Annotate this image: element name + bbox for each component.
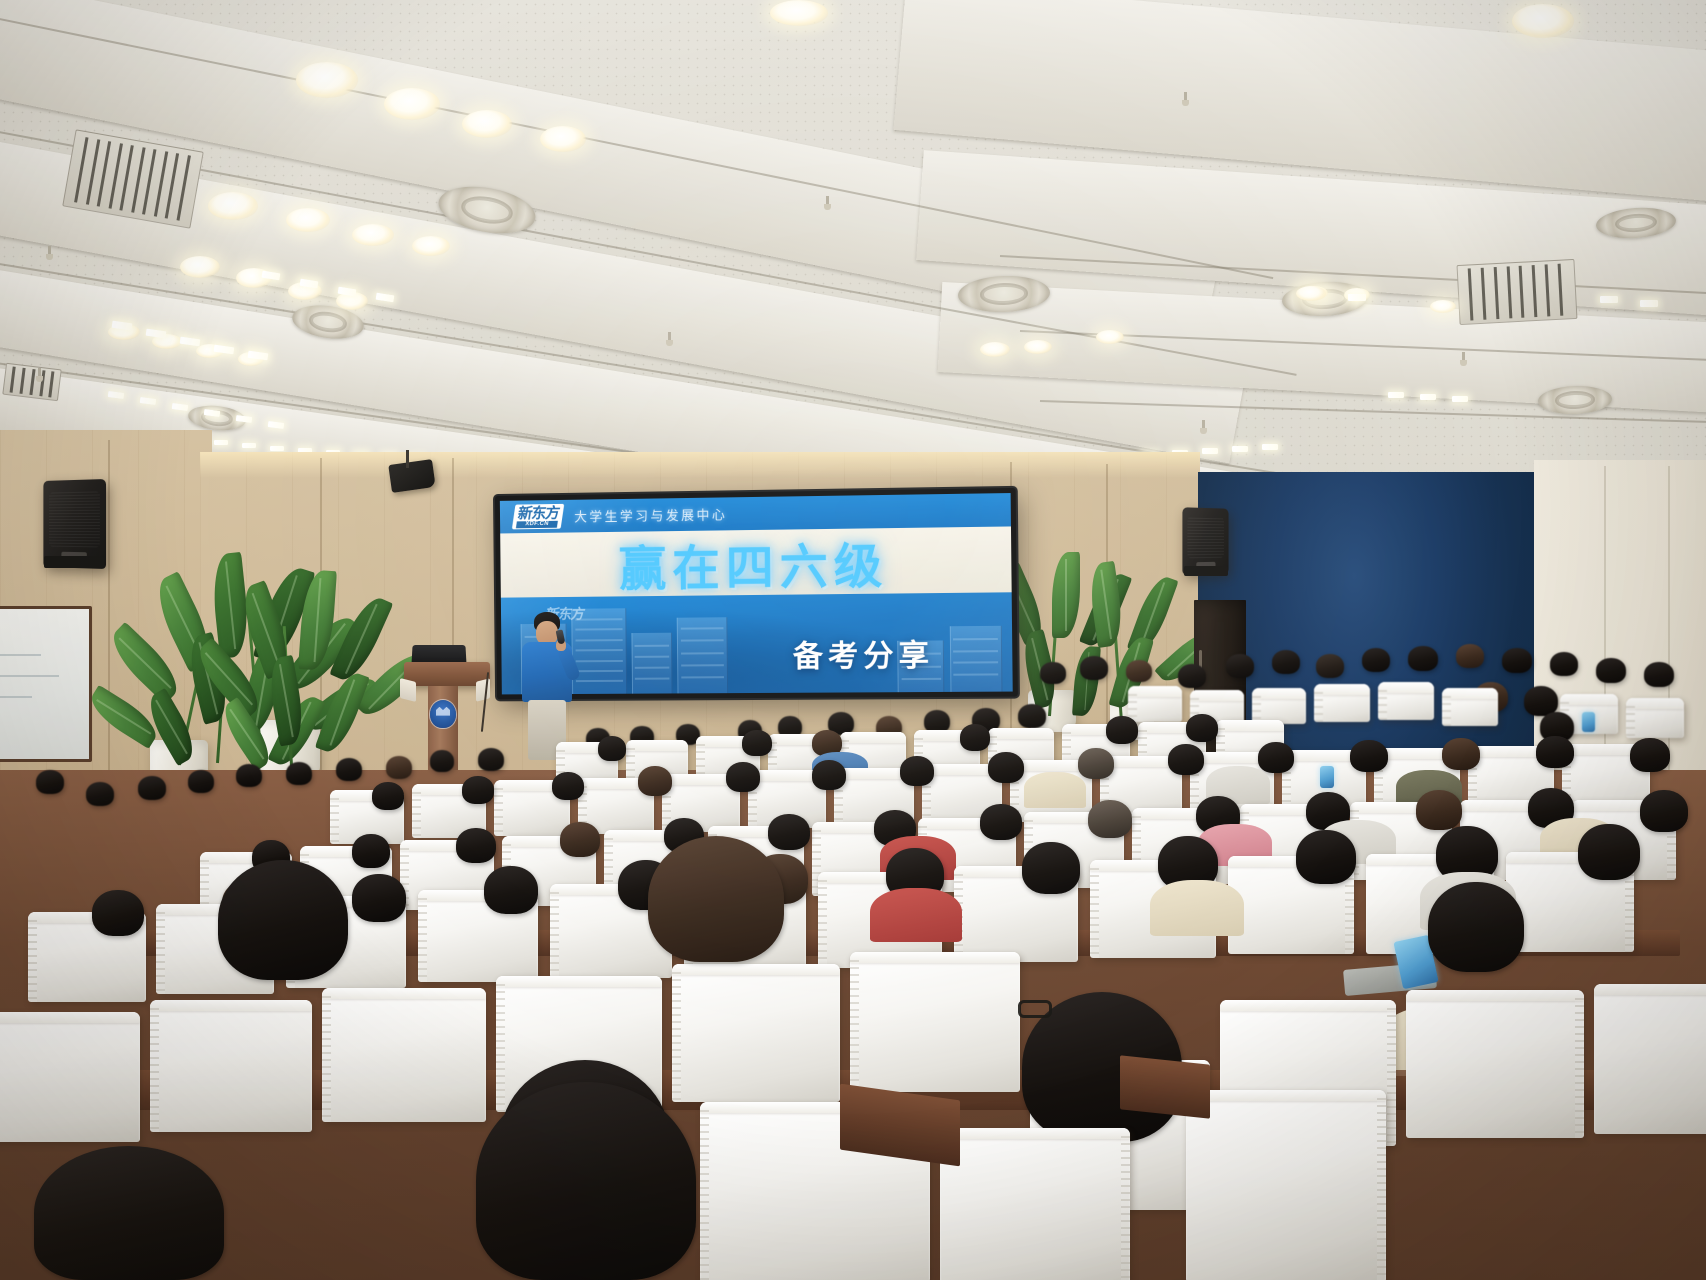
audience-head xyxy=(1316,654,1344,678)
audience-seat[interactable] xyxy=(1594,984,1706,1134)
slide-skyline-graphic xyxy=(632,633,673,694)
downlight-icon xyxy=(384,88,440,120)
audience-head xyxy=(980,804,1022,840)
audience-head xyxy=(1078,748,1114,779)
audience-head xyxy=(1536,736,1574,768)
audience-head xyxy=(386,756,412,779)
audience-head xyxy=(1296,830,1356,884)
audience-seat[interactable] xyxy=(1378,682,1434,720)
audience-head xyxy=(430,750,454,772)
audience-head xyxy=(1350,740,1388,772)
plant-left-cluster-b xyxy=(214,560,404,760)
audience-head xyxy=(900,756,934,786)
audience-seat[interactable] xyxy=(150,1000,312,1132)
audience-seat[interactable] xyxy=(1252,688,1306,724)
audience-head xyxy=(218,860,348,980)
xdf-logo-en: XDF.CN xyxy=(516,521,558,529)
audience-head xyxy=(456,828,496,863)
audience-head xyxy=(552,772,584,800)
strip-light-icon xyxy=(1348,294,1366,301)
audience-head xyxy=(1258,742,1294,773)
strip-light-icon xyxy=(1202,448,1218,454)
whiteboard-marking xyxy=(0,696,32,698)
audience-head xyxy=(1018,704,1046,728)
whiteboard-marking xyxy=(0,654,41,656)
audience-head xyxy=(560,822,600,857)
audience-head xyxy=(1040,662,1066,684)
cove-light-glow xyxy=(200,452,1200,478)
sprinkler-icon xyxy=(46,246,53,262)
hvac-vent-icon xyxy=(2,363,61,402)
strip-light-icon xyxy=(1452,396,1468,402)
strip-light-icon xyxy=(1420,394,1436,400)
downlight-icon xyxy=(1512,4,1574,38)
downlight-icon xyxy=(462,110,512,138)
sprinkler-icon xyxy=(1182,92,1189,108)
audience-seat[interactable] xyxy=(322,988,486,1122)
audience-head xyxy=(1168,744,1204,775)
audience-head xyxy=(188,770,214,793)
audience-head xyxy=(768,814,810,850)
audience-head xyxy=(484,866,538,914)
downlight-icon xyxy=(770,0,828,26)
sprinkler-icon xyxy=(36,368,43,384)
strip-light-icon xyxy=(242,443,256,448)
audience-head xyxy=(648,836,784,962)
ceiling xyxy=(0,0,1706,520)
slide-subtitle: 备考分享 xyxy=(793,631,935,676)
presenter xyxy=(512,612,582,760)
xdf-logo-cn: 新东方 xyxy=(517,506,560,521)
audience-head xyxy=(138,776,166,800)
downlight-icon xyxy=(286,208,330,232)
downlight-icon xyxy=(980,342,1010,357)
plant-leaf xyxy=(1052,552,1080,638)
audience-seat[interactable] xyxy=(1314,684,1370,722)
slide-main-title: 赢在四六级 xyxy=(619,526,889,599)
audience-shoulders xyxy=(870,888,962,942)
audience-head xyxy=(1080,656,1108,680)
strip-light-icon xyxy=(214,440,228,445)
audience-head xyxy=(960,724,990,751)
audience-head xyxy=(1178,664,1206,688)
speaker-bracket xyxy=(44,556,104,568)
audience-head xyxy=(1630,738,1670,772)
audience-head xyxy=(1408,646,1438,671)
audience-head xyxy=(86,782,114,806)
audience-seat[interactable] xyxy=(850,952,1020,1092)
downlight-icon xyxy=(180,256,220,278)
audience-head xyxy=(92,890,144,936)
audience-head xyxy=(1106,716,1138,744)
downlight-icon xyxy=(208,192,258,220)
audience-head xyxy=(1272,650,1300,674)
audience-seat[interactable] xyxy=(1186,1090,1386,1280)
auditorium-photo: 新东方 XDF.CN 大学生学习与发展中心 赢在四六级 xyxy=(0,0,1706,1280)
audience-head-foreground xyxy=(476,1082,696,1280)
audience-seat[interactable] xyxy=(1442,688,1498,726)
strip-light-icon xyxy=(1600,296,1618,303)
downlight-icon xyxy=(540,126,586,152)
audience-head xyxy=(336,758,362,781)
audience-head xyxy=(1578,824,1640,880)
audience-head xyxy=(36,770,64,794)
audience-head xyxy=(1416,790,1462,830)
audience-head xyxy=(726,762,760,792)
slide-skyline-graphic xyxy=(677,617,729,694)
audience-head xyxy=(462,776,494,804)
downlight-icon xyxy=(1096,330,1124,344)
audience-head xyxy=(1442,738,1480,770)
audience-head-foreground xyxy=(34,1146,224,1280)
audience-shoulders xyxy=(1150,880,1244,936)
audience-shoulders xyxy=(1024,772,1086,808)
audience-head xyxy=(1596,658,1626,683)
audience-head xyxy=(1550,652,1578,676)
speaker-bracket xyxy=(1184,566,1228,576)
audience-head xyxy=(1226,654,1254,678)
audience-head xyxy=(286,762,312,785)
downlight-icon xyxy=(412,236,450,256)
audience-seat[interactable] xyxy=(672,964,840,1102)
audience-head xyxy=(1502,648,1532,673)
downlight-icon xyxy=(1296,286,1326,301)
slide-header-text: 大学生学习与发展中心 xyxy=(574,505,727,526)
audience-head xyxy=(236,764,262,787)
downlight-icon xyxy=(1430,300,1456,313)
sprinkler-icon xyxy=(1200,420,1207,436)
plant-leaf xyxy=(329,592,393,686)
whiteboard-marking xyxy=(0,675,59,677)
audience-head xyxy=(372,782,404,810)
seat-frame xyxy=(1120,1055,1210,1118)
strip-light-icon xyxy=(1262,444,1278,450)
strip-light-icon xyxy=(1232,446,1248,452)
audience-head xyxy=(1088,800,1132,838)
audience-head xyxy=(742,730,772,756)
strip-light-icon xyxy=(1640,300,1658,307)
downlight-icon xyxy=(296,62,358,98)
downlight-icon xyxy=(1024,340,1052,354)
audience-head xyxy=(1186,714,1218,742)
audience-head xyxy=(478,748,504,771)
university-crest-icon xyxy=(430,700,456,728)
audience-head xyxy=(812,760,846,790)
lectern-edge-trim xyxy=(400,678,416,702)
audience-head xyxy=(1640,790,1688,832)
hvac-vent-icon xyxy=(1457,259,1578,325)
strip-light-icon xyxy=(1388,392,1404,398)
audience-head xyxy=(598,736,626,761)
audience-seat[interactable] xyxy=(1128,686,1182,722)
sprinkler-icon xyxy=(666,332,673,348)
smartphone-icon[interactable] xyxy=(1320,766,1334,788)
strip-light-icon xyxy=(270,446,284,451)
audience-head xyxy=(1022,842,1080,894)
audience-head xyxy=(1126,660,1152,682)
audience-head xyxy=(1644,662,1674,687)
audience-head xyxy=(988,752,1024,783)
whiteboard xyxy=(0,606,92,762)
sprinkler-icon xyxy=(824,196,831,212)
slide-skyline-graphic xyxy=(949,626,1002,692)
slide-title-band: 赢在四六级 xyxy=(500,527,1011,598)
audience-head xyxy=(1362,648,1390,672)
hanging-equipment-rod xyxy=(406,450,409,468)
audience-head xyxy=(352,874,406,922)
downlight-icon xyxy=(352,224,394,246)
xdf-logo: 新东方 XDF.CN xyxy=(512,504,564,529)
audience-head xyxy=(638,766,672,796)
audience-seat[interactable] xyxy=(940,1128,1130,1280)
audience-head xyxy=(1428,882,1524,972)
smartphone-icon[interactable] xyxy=(1582,712,1595,732)
audience-seat[interactable] xyxy=(0,1012,140,1142)
audience-head xyxy=(352,834,390,868)
plant-leaf xyxy=(298,569,337,671)
sprinkler-icon xyxy=(1460,352,1467,368)
audience-seat[interactable] xyxy=(1406,990,1584,1138)
eyeglasses-icon xyxy=(1018,1000,1052,1018)
audience-seat[interactable] xyxy=(1626,698,1684,738)
audience-head xyxy=(1456,644,1484,668)
